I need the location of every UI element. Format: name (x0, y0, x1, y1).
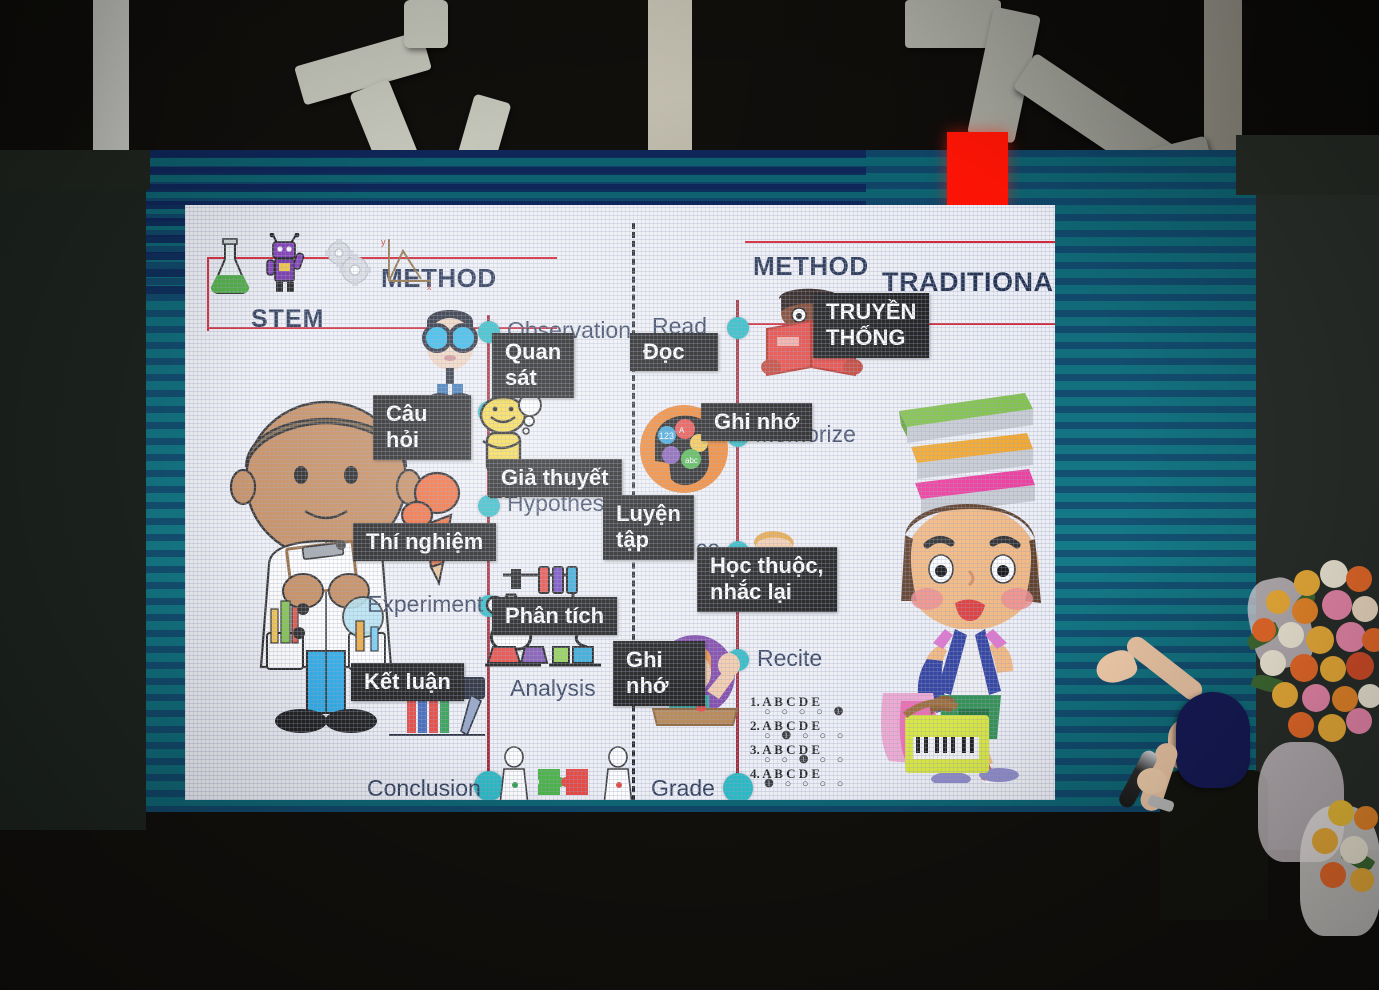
timeline-dot-read (727, 317, 749, 339)
gears-icon (321, 239, 373, 289)
vn-label-quan-sat: Quan sát (492, 333, 574, 398)
vn-label-ghi-nho: Ghi nhớ (701, 403, 812, 441)
label-experiment: Experiment (367, 591, 483, 618)
graph-icon: y x (381, 235, 437, 293)
vn-label-cau-hoi: Câu hỏi (373, 395, 471, 460)
svg-text:A: A (679, 426, 685, 435)
observer-with-binoculars-icon (407, 300, 493, 400)
vn-label-hoc-thuoc: Học thuộc, nhắc lại (697, 547, 837, 612)
vn-label-thi-nghiem: Thí nghiệm (353, 523, 496, 561)
presenter-hair (1176, 692, 1250, 788)
label-recite: Recite (757, 645, 822, 672)
stage-dark-top-left (0, 150, 150, 190)
label-grade: Grade (651, 775, 715, 800)
traditional-method-header: METHOD (753, 251, 869, 282)
svg-text:abc: abc (685, 456, 698, 465)
led-red-block (947, 132, 1008, 207)
puzzle-scientists-icon (498, 745, 634, 800)
overloaded-student-icon (875, 363, 1055, 783)
answer-sheet-icon: 1. A B C D E ○ ○ ○ ○ ❶ 2. A B C D E ○ ❶ … (750, 695, 847, 791)
label-conclusion: Conclusion (367, 775, 481, 800)
svg-text:y: y (381, 237, 386, 247)
stage-dark-top-right (1236, 135, 1379, 195)
flower-arrangement (1246, 556, 1379, 936)
vn-label-ghi-nho-2: Ghi nhớ (613, 641, 705, 706)
robot-icon (263, 233, 309, 295)
stage-dark-left (0, 150, 146, 830)
vn-label-luyen-tap: Luyện tập (603, 495, 694, 560)
screenshot-root: METHOD (0, 0, 1379, 990)
label-analysis: Analysis (510, 675, 596, 702)
vn-label-doc: Đọc (630, 333, 718, 371)
vn-label-phan-tich: Phân tích (492, 597, 617, 635)
vn-label-ket-luan: Kết luận (351, 663, 464, 701)
presentation-slide: METHOD (185, 205, 1055, 800)
stem-brand-label: STEM (251, 305, 324, 334)
svg-text:x: x (427, 282, 432, 292)
svg-text:123: 123 (659, 431, 674, 441)
presenter-mic-hand (1137, 768, 1167, 794)
vn-label-truyen-thong: TRUYỀN THỐNG (813, 293, 929, 358)
vn-label-gia-thuyet: Giả thuyết (488, 459, 622, 497)
flask-icon (207, 237, 253, 295)
timeline-dot-grade (723, 773, 753, 800)
